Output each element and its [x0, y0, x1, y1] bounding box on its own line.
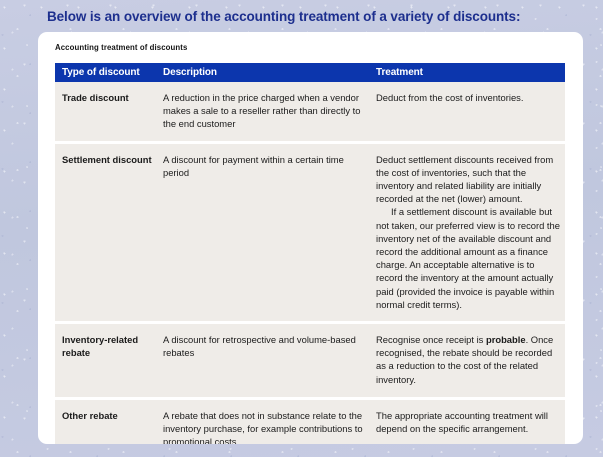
cell-treatment: Recognise once receipt is probable. Once…: [376, 324, 565, 397]
treatment-paragraph: The appropriate accounting treatment wil…: [376, 409, 561, 435]
cell-type: Inventory-related rebate: [55, 324, 163, 397]
page-title: Below is an overview of the accounting t…: [47, 9, 520, 24]
cell-type: Other rebate: [55, 400, 163, 444]
table-row: Inventory-related rebate A discount for …: [55, 324, 565, 400]
cell-type: Trade discount: [55, 82, 163, 141]
treatment-paragraph: Deduct from the cost of inventories.: [376, 91, 561, 104]
cell-treatment: The appropriate accounting treatment wil…: [376, 400, 565, 444]
content-card: Accounting treatment of discounts Type o…: [38, 32, 583, 444]
table-row: Trade discount A reduction in the price …: [55, 82, 565, 144]
cell-description: A rebate that does not in substance rela…: [163, 400, 376, 444]
cell-description: A discount for retrospective and volume-…: [163, 324, 376, 397]
table-header-row: Type of discount Description Treatment: [55, 63, 565, 82]
cell-treatment: Deduct settlement discounts received fro…: [376, 144, 565, 321]
cell-type: Settlement discount: [55, 144, 163, 321]
column-header-description: Description: [163, 67, 376, 78]
emphasised-term: probable: [486, 334, 526, 345]
cell-description: A discount for payment within a certain …: [163, 144, 376, 321]
cell-treatment: Deduct from the cost of inventories.: [376, 82, 565, 141]
table-row: Settlement discount A discount for payme…: [55, 144, 565, 324]
table-row: Other rebate A rebate that does not in s…: [55, 400, 565, 444]
treatment-paragraph: If a settlement discount is available bu…: [376, 205, 561, 311]
cell-description: A reduction in the price charged when a …: [163, 82, 376, 141]
treatment-paragraph: Recognise once receipt is probable. Once…: [376, 333, 561, 386]
table-caption: Accounting treatment of discounts: [55, 43, 187, 52]
treatment-paragraph: Deduct settlement discounts received fro…: [376, 153, 561, 206]
column-header-type: Type of discount: [55, 67, 163, 78]
discounts-table: Type of discount Description Treatment T…: [55, 63, 565, 444]
column-header-treatment: Treatment: [376, 67, 565, 78]
